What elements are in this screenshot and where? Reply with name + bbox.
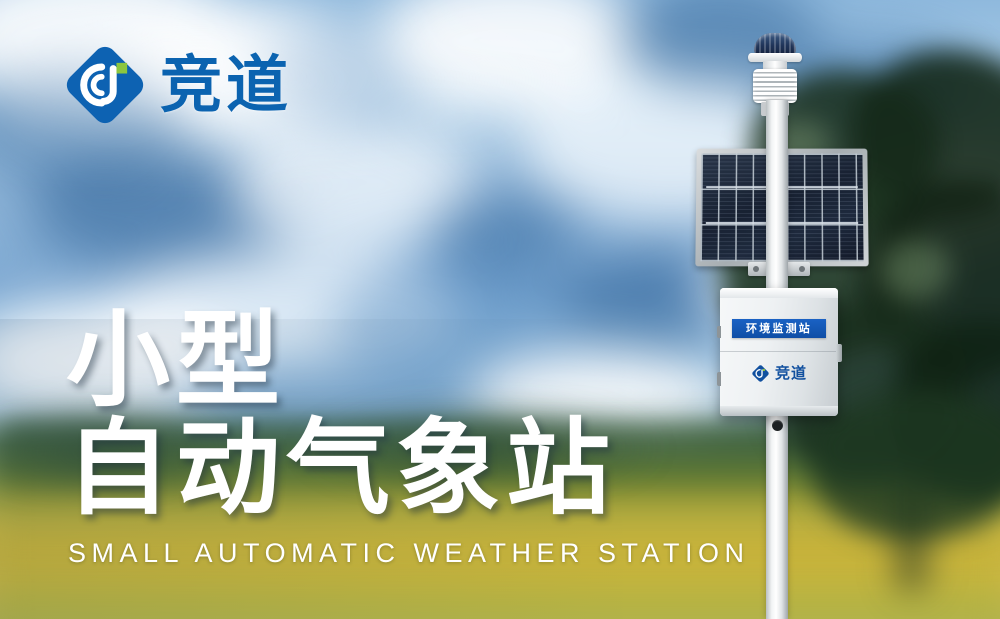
jingdao-diamond-logo-icon [751,364,770,383]
headline-line-2: 自动气象站 [66,414,616,522]
control-box-seam [720,351,838,352]
control-box: 环境监测站 竞道 [720,288,838,416]
control-box-left-latch [717,326,721,338]
control-box-right-latch [836,344,842,362]
control-box-bottom [720,406,838,416]
subtitle: SMALL AUTOMATIC WEATHER STATION [68,538,750,569]
jingdao-diamond-logo-icon [64,44,146,126]
control-box-brand-text: 竞道 [775,366,807,381]
pole-cable-port [772,420,783,431]
control-box-label-text: 环境监测站 [746,323,812,334]
control-box-label-band: 环境监测站 [732,319,826,338]
headline-line-1: 小型 [66,306,616,414]
brand-name: 竞道 [160,54,292,116]
headline: 小型 自动气象站 [66,306,616,522]
sensor-dome [754,33,796,55]
radiation-shield-louvers [753,69,797,103]
banner-image: 环境监测站 竞道 [0,0,1000,619]
control-box-top [720,288,838,298]
control-box-branding: 竞道 [720,364,838,383]
brand-logo[interactable]: 竞道 [64,44,292,126]
weather-station: 环境监测站 竞道 [690,0,920,619]
